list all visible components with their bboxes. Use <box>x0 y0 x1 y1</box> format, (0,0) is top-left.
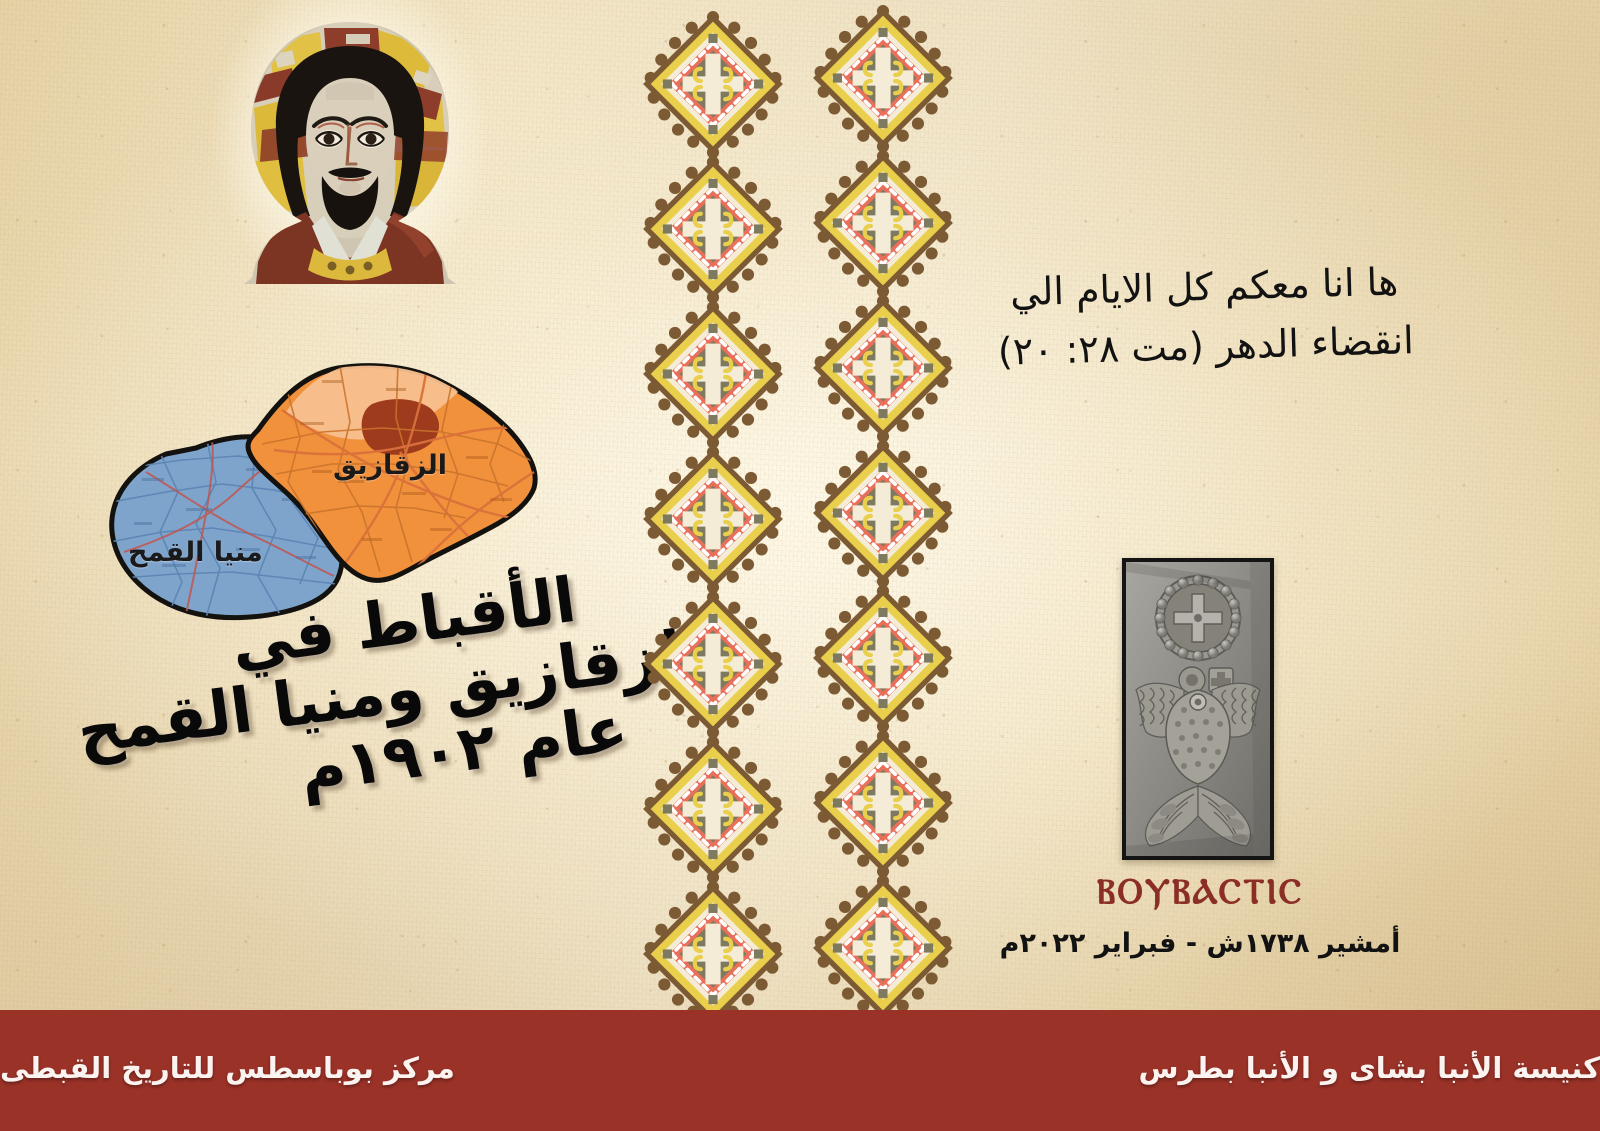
cross-ornament-column-right <box>798 0 968 1010</box>
coptic-wordmark: ⲂⲞⲨⲂⲀⲤⲦⲒⲤ <box>990 871 1410 912</box>
coptic-cross-ornament <box>628 298 798 450</box>
verse-line-2: انقضاء الدهر (مت ٢٨: ٢٠) <box>960 310 1451 383</box>
coptic-cross-ornament <box>798 292 968 444</box>
coptic-cross-ornament <box>628 733 798 885</box>
coptic-cross-ornament <box>628 878 798 1030</box>
footer-right-label: كنيسة الأنبا بشاى و الأنبا بطرس <box>1138 1051 1600 1085</box>
footer-bar: مركز بوباسطس للتاريخ القبطى كنيسة الأنبا… <box>0 1010 1600 1131</box>
coptic-cross-ornament <box>798 147 968 299</box>
coptic-cross-ornament <box>628 588 798 740</box>
footer-center-label: مركز بوباسطس للتاريخ القبطى <box>0 1051 455 1085</box>
cross-ornament-column-left <box>628 0 798 1010</box>
coptic-cross-ornament <box>798 872 968 1024</box>
map-label-zagazig: الزقازيق <box>333 450 447 481</box>
coptic-cross-ornament <box>798 582 968 734</box>
map-label-minya-elqamh: منيا القمح <box>128 537 263 568</box>
bible-verse: ها انا معكم كل الايام الي انقضاء الدهر (… <box>958 251 1451 382</box>
christ-icon <box>228 12 472 290</box>
coptic-cross-ornament <box>798 437 968 589</box>
coptic-cross-ornament <box>628 153 798 305</box>
coptic-stone-relief <box>1122 558 1274 860</box>
issue-date: أمشير ١٧٣٨ش - فبراير ٢٠٢٢م <box>970 928 1430 959</box>
coptic-cross-ornament <box>628 8 798 160</box>
coptic-cross-ornament <box>628 443 798 595</box>
coptic-cross-ornament <box>798 2 968 154</box>
coptic-cross-ornament <box>798 727 968 879</box>
poster-canvas: الزقازيق منيا القمح الأقباط في الزقازيق … <box>0 0 1600 1131</box>
